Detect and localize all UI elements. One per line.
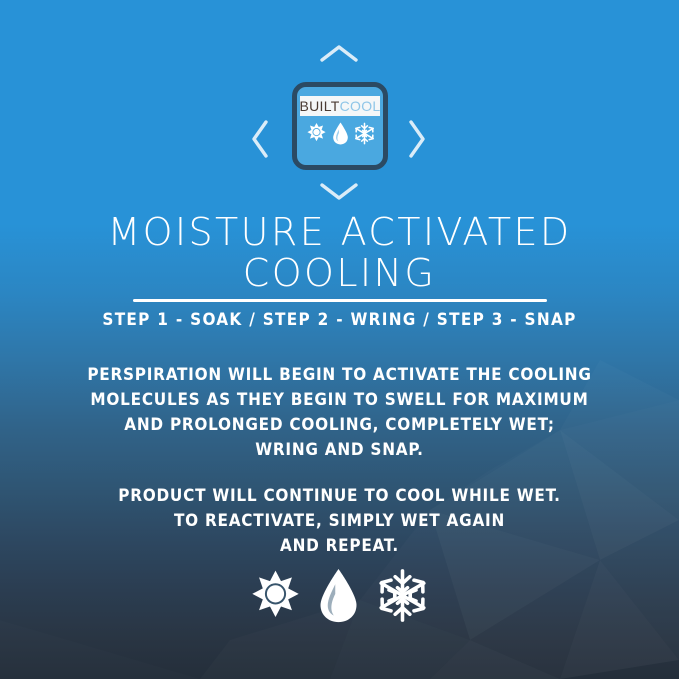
paragraph-line: TO REACTIVATE, SIMPLY WET AGAIN [0,509,679,534]
snowflake-icon [375,568,430,628]
chevron-left-icon[interactable] [249,118,271,165]
product-info-card: BUILTCOOL [0,0,679,679]
steps-summary: STEP 1 - SOAK / STEP 2 - WRING / STEP 3 … [0,310,679,330]
paragraph-line: AND PROLONGED COOLING, COMPLETELY WET; [0,413,679,438]
paragraph-line: PERSPIRATION WILL BEGIN TO ACTIVATE THE … [0,363,679,388]
description-paragraph-2: PRODUCT WILL CONTINUE TO COOL WHILE WET.… [0,484,679,559]
logo-wordmark: BUILTCOOL [300,96,380,116]
description-paragraph-1: PERSPIRATION WILL BEGIN TO ACTIVATE THE … [0,363,679,464]
snowflake-icon [353,122,376,150]
page-title: MOISTURE ACTIVATED COOLING [0,212,679,295]
paragraph-line: PRODUCT WILL CONTINUE TO COOL WHILE WET. [0,484,679,509]
water-drop-icon [331,122,350,150]
paragraph-line: MOLECULES AS THEY BEGIN TO SWELL FOR MAX… [0,388,679,413]
chevron-up-icon[interactable] [318,42,360,69]
builtcool-logo-badge[interactable]: BUILTCOOL [292,82,388,170]
sun-icon [249,569,302,627]
headline-line-2: COOLING [0,253,679,294]
chevron-right-icon[interactable] [406,118,428,165]
paragraph-line: AND REPEAT. [0,534,679,559]
sun-icon [305,122,328,150]
logo-icon-row [305,122,376,150]
water-drop-icon [316,568,361,628]
headline-line-1: MOISTURE ACTIVATED [0,212,679,253]
logo-word-built: BUILT [299,99,339,113]
divider-rule [133,299,547,302]
chevron-down-icon[interactable] [318,180,360,207]
paragraph-line: WRING AND SNAP. [0,438,679,463]
logo-word-cool: COOL [340,99,381,113]
feature-icon-row [0,568,679,628]
